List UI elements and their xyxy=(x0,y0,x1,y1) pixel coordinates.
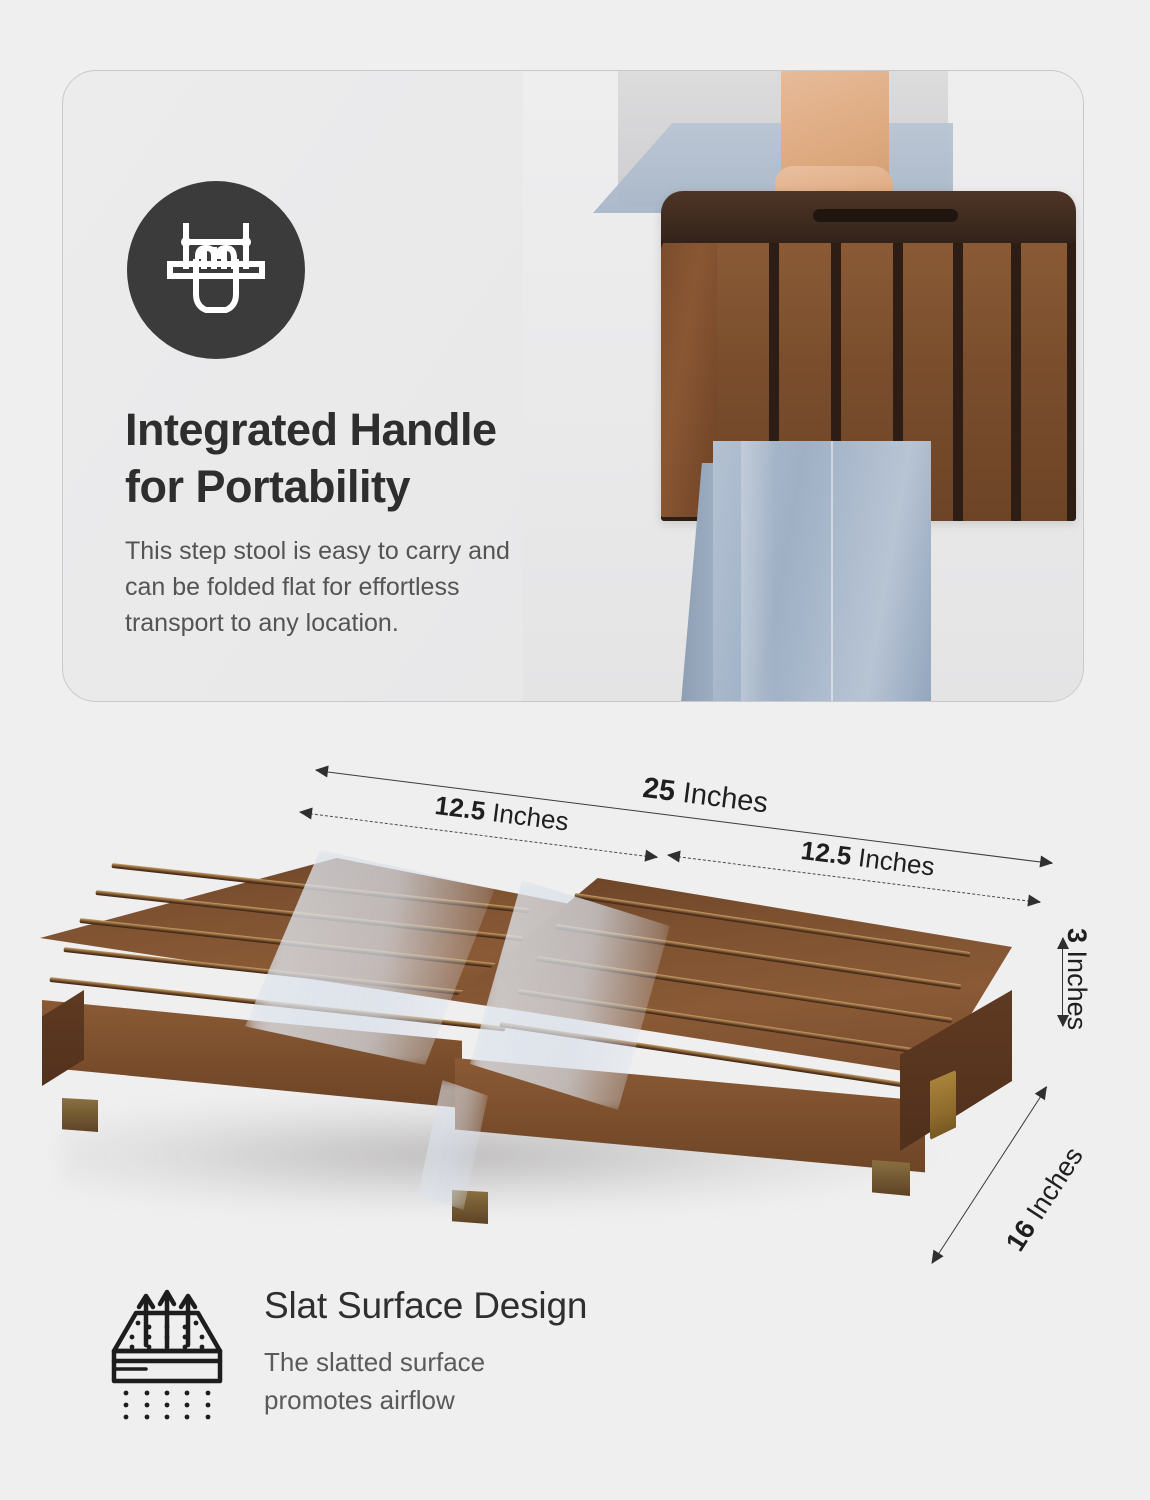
dimension-diagram: 25 Inches 12.5 Inches 12.5 Inches xyxy=(0,700,1150,1320)
folded-stool-top-edge xyxy=(661,191,1076,243)
handle-icon-badge xyxy=(127,181,305,359)
feature-title-line1: Integrated Handle xyxy=(125,401,595,458)
arrow-head-right xyxy=(1039,856,1053,870)
slat-surface-desc-line1: The slatted surface xyxy=(264,1343,485,1381)
side-handle-cutout xyxy=(930,1070,956,1140)
airflow-slat-surface-icon xyxy=(92,1285,242,1435)
arrow-head-right xyxy=(1027,895,1041,909)
feature-description: This step stool is easy to carry and can… xyxy=(125,533,555,641)
hand-grip-handle-icon xyxy=(164,222,268,318)
feature-title: Integrated Handle for Portability xyxy=(125,401,595,515)
dimension-label-height: 3 Inches xyxy=(1061,928,1092,1030)
arrow-head-left xyxy=(314,764,328,778)
stool-foot xyxy=(872,1160,910,1196)
slat-surface-desc-line2: promotes airflow xyxy=(264,1381,485,1419)
slat-surface-description: The slatted surface promotes airflow xyxy=(264,1343,485,1419)
handle-photo xyxy=(563,71,1084,702)
handle-slot xyxy=(813,209,958,222)
arrow-head-left xyxy=(298,806,312,820)
product-photo-unfolded xyxy=(0,700,1150,1320)
slat-surface-title: Slat Surface Design xyxy=(264,1285,587,1327)
feature-title-line2: for Portability xyxy=(125,458,595,515)
arrow-head-right xyxy=(645,850,659,864)
person-leg-front xyxy=(713,441,931,702)
integrated-handle-feature-card: Integrated Handle for Portability This s… xyxy=(62,70,1084,702)
stool-foot xyxy=(62,1098,98,1132)
arrow-head-left xyxy=(666,849,680,863)
slat-surface-feature: Slat Surface Design The slatted surface … xyxy=(0,1275,1150,1465)
infographic-page: Integrated Handle for Portability This s… xyxy=(0,0,1150,1500)
